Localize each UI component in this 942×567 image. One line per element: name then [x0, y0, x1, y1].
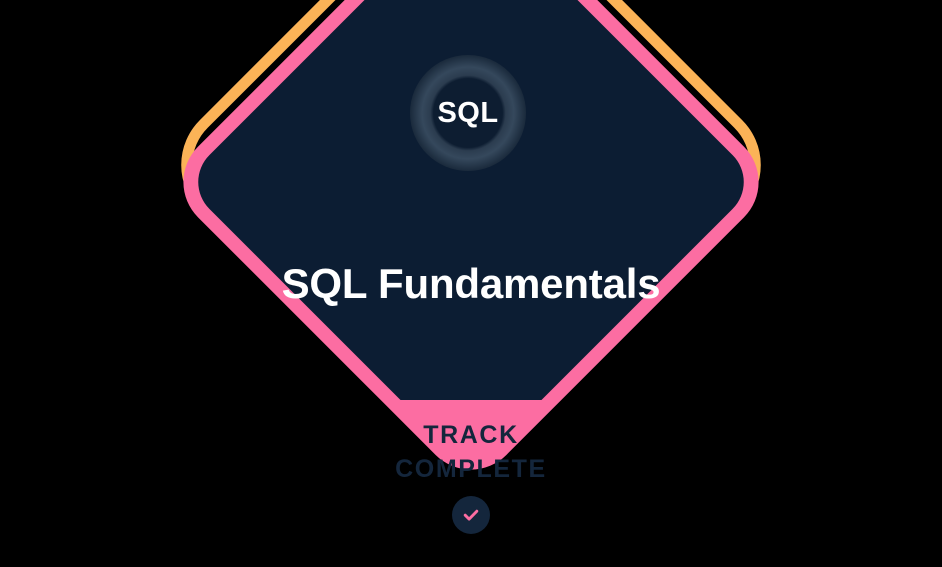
track-title: SQL Fundamentals [0, 258, 942, 310]
track-badge-card[interactable]: SQL SQL Fundamentals TRACK COMPLETE [0, 0, 942, 567]
completion-line-two: COMPLETE [0, 452, 942, 486]
completion-line-one: TRACK [0, 418, 942, 452]
sql-emblem-icon: SQL [410, 55, 526, 171]
check-icon [452, 496, 490, 534]
completion-status: TRACK COMPLETE [0, 418, 942, 534]
emblem-label: SQL [437, 99, 498, 128]
